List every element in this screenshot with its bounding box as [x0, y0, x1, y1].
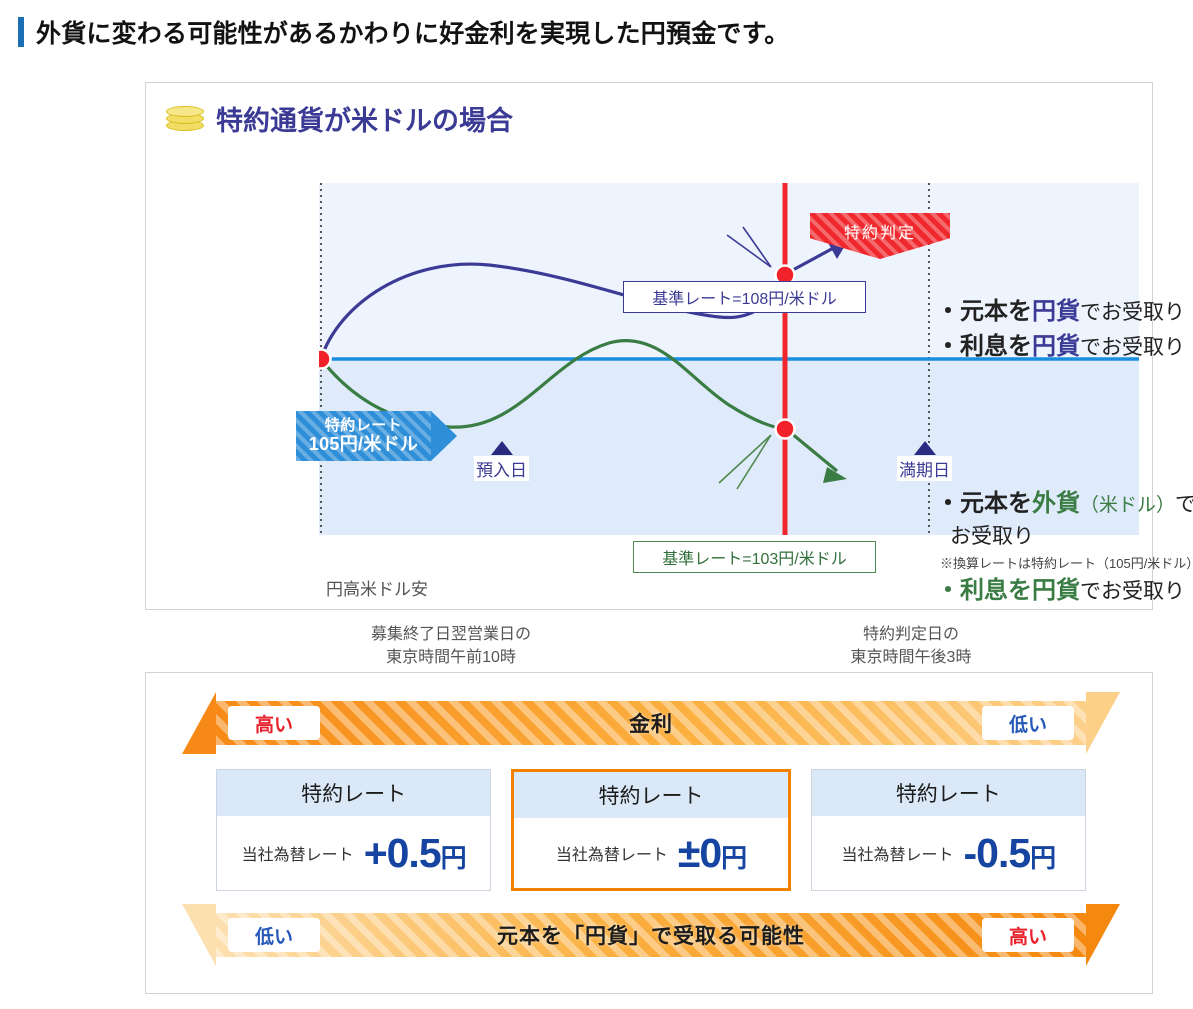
caption-judgement-time-line1: 特約判定日の [766, 623, 1056, 646]
outcome-yen-line2-a: ・利息を [936, 333, 1032, 360]
rate-card-zero-header: 特約レート [514, 772, 787, 818]
outcome-fx-line2: お受取り [936, 522, 1193, 552]
rate-card-zero-number: ±0 [678, 830, 721, 876]
special-rate-badge-line2: 105円/米ドル [309, 434, 418, 454]
outcome-fx-line1-c: （米ドル） [1080, 495, 1175, 516]
rate-card-minus-small: 当社為替レート [841, 841, 953, 865]
bar-arrow-left-icon [182, 692, 216, 754]
outcome-yen-line1: ・元本を円貨でお受取り [936, 295, 1185, 330]
principal-yen-right-pill: 高い [982, 918, 1074, 952]
rate-card-plus-number: +0.5 [364, 830, 441, 876]
outcome-fx-line3-b: 円貨 [1032, 577, 1080, 604]
rate-card-plus-unit: 円 [441, 843, 466, 873]
caption-deposit-time: 募集終了日翌営業日の 東京時間午前10時 [336, 623, 566, 669]
outcome-fx-line1-d: で [1175, 493, 1193, 516]
heading-accent-bar [18, 17, 24, 47]
rate-callout-low: 基準レート=103円/米ドル [633, 541, 876, 573]
rate-card-zero-body: 当社為替レート ±0円 [514, 818, 787, 888]
interest-rate-bar-body: 金利 [216, 701, 1086, 745]
interest-rate-bar: 金利 高い 低い [216, 701, 1086, 745]
special-rate-badge-arrow [431, 411, 457, 461]
principal-yen-bar-label: 元本を「円貨」で受取る可能性 [497, 920, 805, 950]
outcome-yen-line1-b: 円貨 [1032, 298, 1080, 325]
outcome-fx-block: ・元本を外貨（米ドル）で お受取り ※換算レートは特約レート（105円/米ドル）… [936, 487, 1193, 609]
triangle-up-icon [914, 441, 936, 455]
caption-judgement-time-line2: 東京時間午後3時 [766, 646, 1056, 669]
interest-rate-left-pill: 高い [228, 706, 320, 740]
scale-inner: 金利 高い 低い 特約レート 当社為替レート +0.5円 特約レート 当社為替レ… [216, 701, 1086, 971]
rate-card-minus-unit: 円 [1030, 843, 1055, 873]
outcome-fx-line3-a: ・利息を [936, 577, 1032, 604]
chart-panel: 特約通貨が米ドルの場合 円安米ドル高 円高米ドル安 [145, 82, 1153, 610]
outcome-fx-line1-a: ・元本を [936, 490, 1032, 517]
bar-arrow-right-icon [1086, 904, 1120, 966]
rate-card-zero[interactable]: 特約レート 当社為替レート ±0円 [511, 769, 790, 891]
outcome-fx-line3: ・利息を円貨でお受取り [936, 574, 1193, 609]
principal-yen-bar-body: 元本を「円貨」で受取る可能性 [216, 913, 1086, 957]
principal-yen-bar: 元本を「円貨」で受取る可能性 低い 高い [216, 913, 1086, 957]
outcome-yen-line2-b: 円貨 [1032, 333, 1080, 360]
rate-card-zero-unit: 円 [721, 843, 746, 873]
rate-card-plus-body: 当社為替レート +0.5円 [217, 816, 490, 890]
rate-cards: 特約レート 当社為替レート +0.5円 特約レート 当社為替レート ±0円 特約… [216, 769, 1086, 891]
rate-card-minus-header: 特約レート [812, 770, 1085, 816]
interest-rate-right-pill: 低い [982, 706, 1074, 740]
caption-deposit-time-line2: 東京時間午前10時 [336, 646, 566, 669]
outcome-yen-line2: ・利息を円貨でお受取り [936, 330, 1185, 365]
rate-card-plus-value: +0.5円 [364, 830, 466, 877]
caption-judgement-time: 特約判定日の 東京時間午後3時 [766, 623, 1056, 669]
triangle-up-icon [491, 441, 513, 455]
rate-card-zero-small: 当社為替レート [556, 841, 668, 865]
rate-card-minus-body: 当社為替レート -0.5円 [812, 816, 1085, 890]
heading-text: 外貨に変わる可能性があるかわりに好金利を実現した円預金です。 [36, 14, 790, 50]
rate-card-minus-number: -0.5 [963, 830, 1030, 876]
tick-marker-deposit-date: 預入日 [474, 441, 529, 481]
chart-title-text: 特約通貨が米ドルの場合 [216, 99, 513, 138]
axis-label-bottom: 円高米ドル安 [326, 575, 428, 600]
judgement-banner-label: 特約判定 [844, 219, 916, 243]
tick-marker-maturity-date: 満期日 [897, 441, 952, 481]
rate-card-plus-header: 特約レート [217, 770, 490, 816]
chart-title: 特約通貨が米ドルの場合 [166, 99, 513, 138]
bar-arrow-right-icon [1086, 692, 1120, 754]
special-rate-badge: 特約レート 105円/米ドル [296, 411, 431, 461]
principal-yen-left-pill: 低い [228, 918, 320, 952]
outcome-fx-line1: ・元本を外貨（米ドル）で [936, 487, 1193, 522]
tick-label-deposit-date: 預入日 [474, 456, 529, 481]
page-heading: 外貨に変わる可能性があるかわりに好金利を実現した円預金です。 [18, 10, 1118, 54]
rate-card-zero-value: ±0円 [678, 830, 746, 877]
caption-deposit-time-line1: 募集終了日翌営業日の [336, 623, 566, 646]
outcome-yen-line1-a: ・元本を [936, 298, 1032, 325]
rate-card-plus[interactable]: 特約レート 当社為替レート +0.5円 [216, 769, 491, 891]
coins-icon [166, 104, 204, 134]
tick-label-maturity-date: 満期日 [897, 456, 952, 481]
outcome-yen-line2-c: でお受取り [1080, 336, 1185, 359]
outcome-fx-line1-b: 外貨 [1032, 490, 1080, 517]
outcome-fx-line3-c: でお受取り [1080, 580, 1185, 603]
rate-card-minus[interactable]: 特約レート 当社為替レート -0.5円 [811, 769, 1086, 891]
rate-callout-high: 基準レート=108円/米ドル [623, 281, 866, 313]
outcome-yen-block: ・元本を円貨でお受取り ・利息を円貨でお受取り [936, 295, 1185, 365]
outcome-fx-note: ※換算レートは特約レート（105円/米ドル） [940, 553, 1193, 572]
special-rate-badge-line1: 特約レート [325, 418, 403, 435]
bar-arrow-left-icon [182, 904, 216, 966]
interest-rate-bar-label: 金利 [629, 708, 673, 738]
scale-panel: 金利 高い 低い 特約レート 当社為替レート +0.5円 特約レート 当社為替レ… [145, 672, 1153, 994]
rate-card-plus-small: 当社為替レート [242, 841, 354, 865]
outcome-yen-line1-c: でお受取り [1080, 301, 1185, 324]
rate-card-minus-value: -0.5円 [963, 830, 1055, 877]
